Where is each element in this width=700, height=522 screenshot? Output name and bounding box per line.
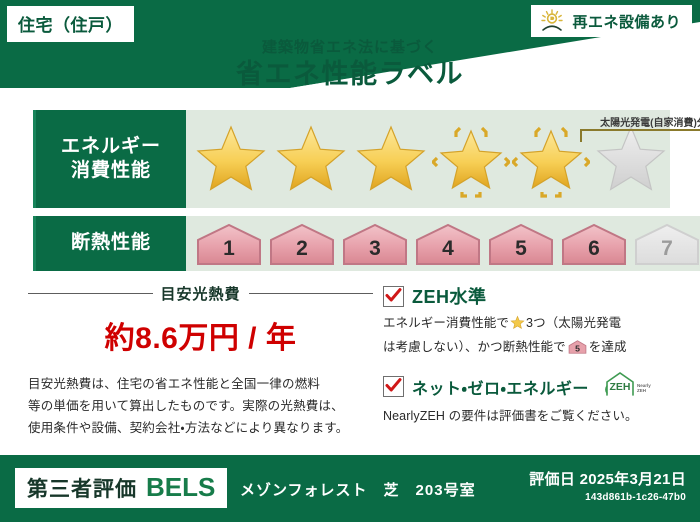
rule-right — [249, 293, 374, 294]
utility-cost-block: 目安光熱費 約8.6万円 / 年 目安光熱費は、住宅の省エネ性能と全国一律の燃料… — [28, 283, 373, 440]
utility-cost-note: 目安光熱費は、住宅の省エネ性能と全国一律の燃料 等の単価を用いて算出したものです… — [28, 374, 373, 440]
insulation-house-label-7: 7 — [661, 238, 673, 266]
insulation-label-line1: 断熱性能 — [71, 231, 151, 255]
sun-solar-icon — [539, 9, 565, 33]
label-heading: 建築物省エネ法に基づく 省エネ性能ラベル — [0, 40, 700, 89]
insulation-house-5: 5 — [486, 222, 556, 266]
insulation-house-3: 3 — [340, 222, 410, 266]
bels-en-label: BELS — [146, 472, 215, 503]
evaluation-info: 評価日 2025年3月21日 143d861b-1c26-47b0 — [529, 468, 686, 503]
insulation-house-label-5: 5 — [515, 238, 527, 266]
solar-annotation-label: 太陽光発電(自家消費)分 — [576, 114, 700, 129]
net-zero-energy-item: ネット・ゼロ・エネルギー ZEH Nearly ZEH NearlyZEH の要… — [383, 371, 678, 427]
insulation-house-6: 6 — [559, 222, 629, 266]
svg-text:5: 5 — [575, 343, 580, 353]
energy-star-panel: 太陽光発電(自家消費)分 — [186, 110, 670, 208]
net-zero-title: ネット・ゼロ・エネルギー — [412, 375, 589, 399]
star-icon-1 — [192, 120, 270, 198]
insulation-house-4: 4 — [413, 222, 483, 266]
svg-text:ZEH: ZEH — [637, 388, 646, 393]
energy-performance-row: エネルギー 消費性能 — [33, 110, 665, 208]
insulation-house-label-4: 4 — [442, 238, 454, 266]
net-zero-title-row: ネット・ゼロ・エネルギー ZEH Nearly ZEH — [383, 371, 678, 402]
insulation-performance-label: 断熱性能 — [33, 216, 186, 271]
renewable-energy-badge: 再エネ設備あり — [531, 5, 692, 37]
energy-label-line1: エネルギー — [61, 135, 161, 159]
zeh-standard-title-row: ZEH水準 — [383, 283, 678, 309]
lower-section: 目安光熱費 約8.6万円 / 年 目安光熱費は、住宅の省エネ性能と全国一律の燃料… — [0, 283, 700, 448]
insulation-scale-panel: 1 2 3 4 5 — [186, 216, 700, 271]
star-icon-4-solar — [432, 120, 510, 198]
heading-subtitle: 建築物省エネ法に基づく — [0, 40, 700, 57]
bels-certification-box: 第三者評価 BELS — [15, 468, 227, 508]
zeh-block: ZEH水準 エネルギー消費性能で3つ（太陽光発電は考慮しない）、かつ断熱性能で5… — [383, 283, 678, 437]
bels-energy-label: 住宅（住戸） 再エネ設備あり 建築物省エネ法に基づく — [0, 0, 700, 522]
heading-title: 省エネ性能ラベル — [0, 60, 700, 90]
zeh-desc-part-d: を達成 — [589, 340, 627, 354]
zeh-desc-part-a: エネルギー消費性能で — [383, 316, 509, 330]
insulation-house-label-3: 3 — [369, 238, 381, 266]
inline-house-badge-icon: 5 — [568, 339, 587, 362]
utility-cost-header: 目安光熱費 — [28, 283, 373, 304]
star-icon-3 — [352, 120, 430, 198]
insulation-house-1: 1 — [194, 222, 264, 266]
evaluation-id: 143d861b-1c26-47b0 — [529, 492, 686, 503]
zeh-desc-part-b: 3つ（太陽光発電 — [526, 316, 621, 330]
solar-annotation-bracket: 太陽光発電(自家消費)分 — [576, 116, 700, 146]
utility-cost-title: 目安光熱費 — [161, 283, 241, 304]
checkbox-checked-icon-net-zero — [383, 376, 404, 397]
svg-text:Nearly: Nearly — [637, 383, 651, 388]
zeh-standard-description: エネルギー消費性能で3つ（太陽光発電は考慮しない）、かつ断熱性能で5を達成 — [383, 313, 678, 361]
utility-cost-value: 約8.6万円 / 年 — [28, 313, 373, 357]
zeh-standard-title: ZEH水準 — [412, 283, 487, 309]
label-footer: 第三者評価 BELS メゾンフォレスト 芝 203号室 評価日 2025年3月2… — [0, 456, 700, 522]
zeh-standard-item: ZEH水準 エネルギー消費性能で3つ（太陽光発電は考慮しない）、かつ断熱性能で5… — [383, 283, 678, 361]
solar-bracket-line — [580, 129, 700, 142]
net-zero-description: NearlyZEH の要件は評価書をご覧ください。 — [383, 406, 678, 427]
bels-jp-label: 第三者評価 — [27, 473, 137, 503]
utility-cost-note-line3: 使用条件や設備、契約会社・方法などにより異なります。 — [28, 418, 373, 440]
insulation-house-2: 2 — [267, 222, 337, 266]
rule-left — [28, 293, 153, 294]
energy-performance-label: エネルギー 消費性能 — [33, 110, 186, 208]
performance-section: エネルギー 消費性能 — [33, 110, 665, 279]
inline-star-icon — [510, 315, 525, 337]
evaluation-date: 評価日 2025年3月21日 — [529, 468, 686, 489]
renewable-energy-badge-label: 再エネ設備あり — [572, 11, 681, 32]
zeh-house-logo-icon: ZEH Nearly ZEH — [602, 371, 654, 402]
utility-cost-note-line1: 目安光熱費は、住宅の省エネ性能と全国一律の燃料 — [28, 374, 373, 396]
checkbox-checked-icon-zeh-standard — [383, 286, 404, 307]
svg-text:ZEH: ZEH — [609, 381, 630, 393]
insulation-house-label-1: 1 — [223, 238, 235, 266]
insulation-performance-row: 断熱性能 1 2 — [33, 216, 665, 271]
insulation-house-label-6: 6 — [588, 238, 600, 266]
insulation-scale: 1 2 3 4 5 — [186, 216, 700, 271]
insulation-house-7: 7 — [632, 222, 700, 266]
star-icon-2 — [272, 120, 350, 198]
category-tag: 住宅（住戸） — [7, 6, 134, 42]
insulation-house-label-2: 2 — [296, 238, 308, 266]
utility-cost-note-line2: 等の単価を用いて算出したものです。実際の光熱費は、 — [28, 396, 373, 418]
zeh-desc-part-c: は考慮しない）、かつ断熱性能で — [383, 340, 566, 354]
building-name: メゾンフォレスト 芝 203号室 — [240, 479, 476, 500]
energy-label-line2: 消費性能 — [71, 159, 151, 183]
